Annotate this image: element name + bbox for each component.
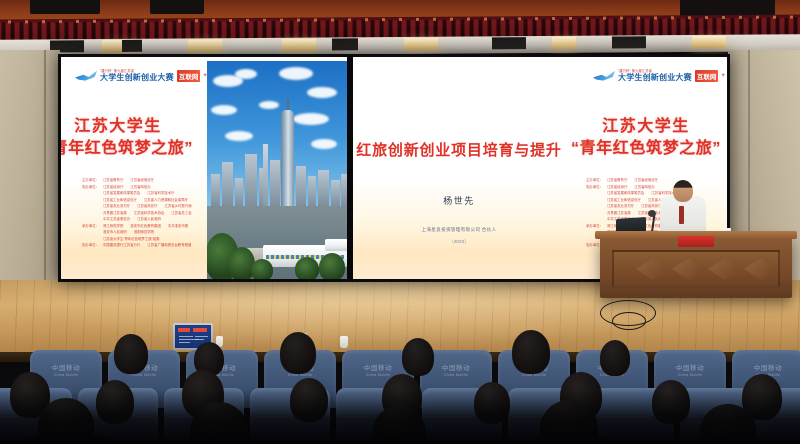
audience-head [600, 340, 630, 376]
slide-background [353, 57, 565, 279]
stage-light [282, 39, 316, 51]
seat-brand: 中国移动 China Mobile [442, 365, 470, 378]
audience-head [280, 332, 316, 374]
shanghai-skyline-photo [207, 61, 347, 279]
auditorium-scene: “建行杯” 第九届江苏省 大学生创新创业大赛 互联网 + 江苏大学生 “青年红色… [0, 0, 800, 444]
stage-light [492, 37, 526, 49]
credit-label: 协办单位： [573, 184, 603, 191]
desk-front-panel [612, 250, 780, 288]
audience-seating: 中国移动 China Mobile 中国移动 China Mobile 中国移动… [0, 336, 800, 444]
stage-light [612, 36, 646, 48]
seat-brand: 中国移动 China Mobile [676, 365, 704, 378]
seat-brand-en: China Mobile [364, 373, 392, 377]
stage-light [332, 38, 358, 50]
stage-light [552, 37, 576, 49]
seat-brand: 中国移动 China Mobile [52, 365, 80, 378]
logo-title: 大学生创新创业大赛 [100, 74, 174, 82]
credit-organization: 中共淮安市委 [168, 223, 188, 230]
audience-head [512, 330, 550, 374]
logo-badge: 互联网 [177, 70, 201, 82]
seat-brand-en: China Mobile [676, 373, 704, 377]
stage-light [122, 40, 142, 52]
logo-badge: 互联网 [695, 70, 719, 82]
logo-tagline: “建行杯” 第九届江苏省 [100, 70, 174, 73]
credit-label: 承办单位： [69, 223, 99, 230]
logo-plus: + [721, 73, 725, 79]
seat-brand-cn: 中国移动 [676, 365, 704, 373]
seat-brand-cn: 中国移动 [52, 365, 80, 373]
credit-values: 中国建设银行江苏省分行江苏省广播电视总台教育频道 [103, 242, 191, 249]
credit-label: 协办单位： [69, 184, 99, 191]
floor-cable [612, 312, 646, 330]
seat-brand-cn: 中国移动 [754, 365, 782, 373]
credit-label: 协办单位： [69, 242, 99, 249]
foreground-shadow [0, 390, 800, 444]
credits-block: 主办单位：江苏省教育厅江苏省经用信厅协办单位：江苏省经添厅江苏省网信办主办单位：… [69, 177, 215, 249]
slide-title-line2: “青年红色筑梦之旅” [565, 137, 727, 160]
presentation-title: 红旅创新创业项目培育与提升 [353, 139, 565, 160]
led-panel-left: “建行杯” 第九届江苏省 大学生创新创业大赛 互联网 + 江苏大学生 “青年红色… [61, 57, 347, 279]
presenter-head [673, 180, 693, 202]
ceiling-panel [680, 0, 775, 16]
speaker-name: 杨世先 [353, 194, 565, 207]
credit-row: 协办单位：中国建设银行江苏省分行江苏省广播电视总台教育频道 [69, 242, 215, 249]
presenter-tie [679, 206, 684, 224]
speaker-organization: 上海星良投资管理有限公司 合伙人 [353, 227, 565, 233]
credit-organization: 江苏省广播电视总台教育频道 [147, 242, 191, 249]
swoosh-icon [75, 70, 97, 83]
competition-logo: “建行杯” 第九届江苏省 大学生创新创业大赛 互联网 + [75, 67, 219, 85]
seat-brand-cn: 中国移动 [364, 365, 392, 373]
ceiling-panel [30, 0, 100, 14]
credit-label: 承办单位： [573, 223, 603, 230]
shanghai-tower [281, 110, 294, 206]
audience-head [402, 338, 434, 376]
credit-organization: 江苏省总工会 [171, 210, 191, 217]
speaker-nameplate [678, 236, 714, 247]
swoosh-icon [593, 70, 615, 83]
logo-tagline: “建行杯” 第九届江苏省 [618, 70, 692, 73]
logo-title: 大学生创新创业大赛 [618, 74, 692, 82]
presentation-year: （2023） [353, 239, 565, 245]
slide-title-line1: 江苏大学生 [565, 115, 727, 138]
seat-brand-en: China Mobile [52, 373, 80, 377]
audience-head [114, 334, 148, 374]
microphone-head [648, 210, 656, 217]
credit-label: 协办单位： [573, 242, 603, 249]
stage-light [188, 39, 222, 51]
ceiling-panel [150, 0, 204, 14]
stage-light [404, 38, 438, 50]
competition-logo: “建行杯” 第九届江苏省 大学生创新创业大赛 互联网 + [593, 67, 727, 85]
stage-light [692, 36, 726, 48]
seat-brand: 中国移动 China Mobile [364, 365, 392, 378]
seat-brand-cn: 中国移动 [442, 365, 470, 373]
river-boat [325, 239, 347, 251]
seat-brand-en: China Mobile [442, 373, 470, 377]
led-panel-center: 红旅创新创业项目培育与提升 杨世先 上海星良投资管理有限公司 合伙人 （2023… [353, 57, 565, 279]
credit-organization: 中国建设银行江苏省分行 [103, 242, 140, 249]
